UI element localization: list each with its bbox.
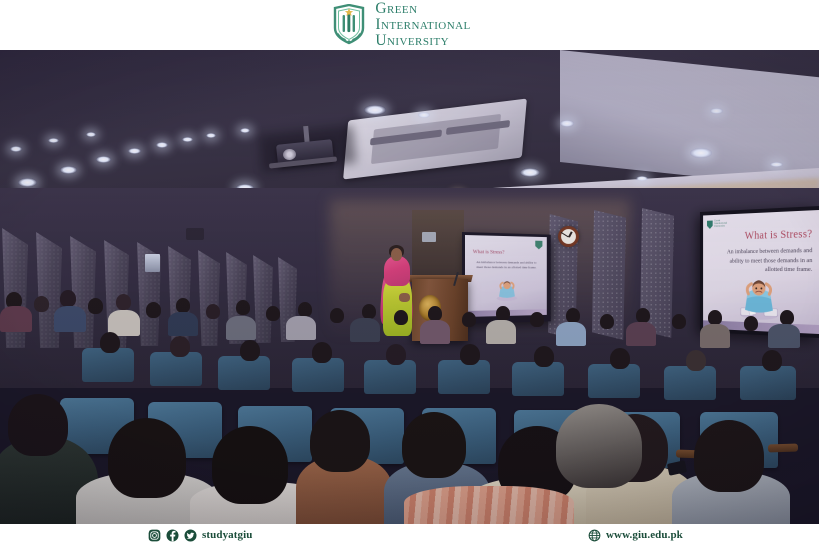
- ceiling-downlight: [690, 148, 712, 158]
- brand-line-international: International: [375, 17, 470, 33]
- wall-display-panel: [145, 254, 160, 272]
- audience-member-head: [212, 426, 288, 504]
- brand-wordmark: Green International University: [375, 1, 470, 49]
- presenter-head: [391, 248, 402, 261]
- audience-member-head: [330, 308, 344, 323]
- center-slide-title: What is Stress?: [473, 249, 505, 255]
- ceiling-downlight: [520, 168, 540, 177]
- audience-member-head: [530, 312, 544, 327]
- audience-member-head: [266, 306, 280, 321]
- audience-member-head: [672, 314, 686, 329]
- auditorium-chair: [364, 360, 416, 394]
- audience-member-head: [8, 394, 68, 456]
- mobile-phone: [667, 460, 687, 475]
- audience-member-head: [460, 344, 480, 365]
- audience-member-head: [462, 312, 476, 327]
- audience-member-torso: [700, 324, 730, 348]
- audience-member-head: [534, 346, 554, 367]
- social-handle: studyatgiu: [202, 529, 253, 541]
- audience-member-head: [310, 410, 370, 472]
- audience-member-torso: [556, 322, 586, 346]
- auditorium-chair: [512, 362, 564, 396]
- globe-icon: [588, 529, 601, 542]
- auditorium-chair: [82, 348, 134, 382]
- facebook-icon[interactable]: [166, 529, 179, 542]
- twitter-icon[interactable]: [184, 529, 197, 542]
- audience-member-torso: [168, 312, 198, 336]
- audience-member-head: [708, 310, 722, 325]
- page-header: Green International University: [0, 0, 819, 50]
- audience-member-head: [236, 300, 250, 315]
- audience-member-torso: [350, 318, 380, 342]
- ceiling-downlight: [10, 146, 22, 152]
- audience-member-torso: [768, 324, 800, 348]
- audience-member-head: [600, 314, 614, 329]
- ceiling-downlight: [182, 137, 193, 142]
- ceiling-downlight: [710, 108, 723, 114]
- audience-member-head: [402, 412, 466, 478]
- audience-member-torso: [0, 306, 32, 332]
- brand-line-green: Green: [375, 1, 470, 17]
- audience-member-head: [312, 342, 332, 363]
- audience-seating-area: [0, 286, 819, 524]
- center-slide-body: An imbalance between demands and ability…: [473, 260, 540, 271]
- audience-member-head: [394, 310, 408, 325]
- page-footer: studyatgiu www.giu.edu.pk: [0, 524, 819, 546]
- audience-member-head: [298, 302, 312, 317]
- auditorium-chair: [292, 358, 344, 392]
- ceiling-downlight: [560, 120, 574, 127]
- ceiling-downlight: [770, 162, 783, 167]
- audience-member-head: [636, 308, 650, 323]
- slide-body-text: An imbalance between demands and ability…: [721, 246, 813, 274]
- auditorium-chair: [150, 352, 202, 386]
- ceiling-downlight: [364, 105, 386, 115]
- slide-title: What is Stress?: [703, 228, 812, 243]
- social-media-group: studyatgiu: [148, 529, 253, 542]
- ceiling-downlight: [206, 133, 216, 138]
- ceiling-downlight: [636, 176, 648, 181]
- instagram-icon[interactable]: [148, 529, 161, 542]
- event-photograph: Green International University What is S…: [0, 50, 819, 524]
- auditorium-chair: [218, 356, 270, 390]
- audience-member-head: [240, 340, 260, 361]
- audience-member-head: [362, 304, 376, 319]
- audience-member-head: [60, 290, 76, 307]
- slide-brand-text: Green International University: [714, 220, 727, 229]
- audience-member-head: [386, 344, 406, 365]
- slide-brand-line3: University: [714, 225, 727, 228]
- audience-member-torso: [286, 316, 316, 340]
- audience-member-head: [496, 306, 510, 321]
- ceiling-downlight: [18, 178, 37, 187]
- audience-member-head: [610, 348, 630, 369]
- audience-member-torso: [420, 320, 450, 344]
- audience-member-head: [206, 304, 220, 319]
- audience-member-torso: [226, 316, 256, 340]
- audience-member-head: [88, 298, 103, 314]
- audience-member-head: [34, 296, 49, 312]
- chair-armrest: [768, 443, 798, 452]
- giu-shield-logo-icon: [332, 4, 366, 46]
- ceiling-downlight: [128, 148, 141, 154]
- ceiling-downlight: [60, 166, 77, 174]
- brand-lockup: Green International University: [332, 1, 470, 49]
- door-sign: [422, 232, 436, 242]
- audience-member-torso: [486, 320, 516, 344]
- audience-member-head: [100, 332, 120, 353]
- ceiling-downlight: [156, 142, 168, 148]
- audience-member-head: [686, 350, 706, 371]
- audience-member-torso: [626, 322, 656, 346]
- audience-member-torso: [404, 486, 574, 524]
- website-url[interactable]: www.giu.edu.pk: [606, 529, 683, 541]
- wall-speaker: [186, 228, 204, 240]
- brand-line-university: University: [375, 33, 470, 49]
- audience-member-torso: [54, 306, 86, 332]
- audience-member-head: [428, 306, 442, 321]
- giu-shield-logo-icon: [707, 221, 713, 229]
- audience-member-head: [762, 350, 782, 371]
- ceiling-downlight: [418, 112, 430, 118]
- auditorium-chair: [664, 366, 716, 400]
- auditorium-chair: [438, 360, 490, 394]
- audience-member-head: [780, 310, 794, 325]
- audience-member-head: [744, 316, 758, 331]
- auditorium-chair: [740, 366, 796, 400]
- audience-member-head: [170, 336, 190, 357]
- audience-member-head: [146, 302, 161, 318]
- ceiling-downlight: [86, 132, 96, 137]
- audience-member-head: [116, 294, 131, 310]
- giu-shield-logo-icon: [535, 241, 542, 250]
- website-group: www.giu.edu.pk: [588, 529, 683, 542]
- audience-member-head: [694, 420, 764, 492]
- audience-member-head: [566, 308, 580, 323]
- ceiling-downlight: [240, 128, 250, 133]
- slide-brand-logo: Green International University: [707, 220, 727, 229]
- audience-member-head: [176, 298, 190, 313]
- ceiling-downlight: [96, 156, 111, 163]
- ceiling-downlight: [48, 138, 59, 143]
- audience-member-head: [108, 418, 186, 498]
- poster-page: Green International University: [0, 0, 819, 546]
- auditorium-chair: [588, 364, 640, 398]
- audience-member-head: [556, 404, 642, 488]
